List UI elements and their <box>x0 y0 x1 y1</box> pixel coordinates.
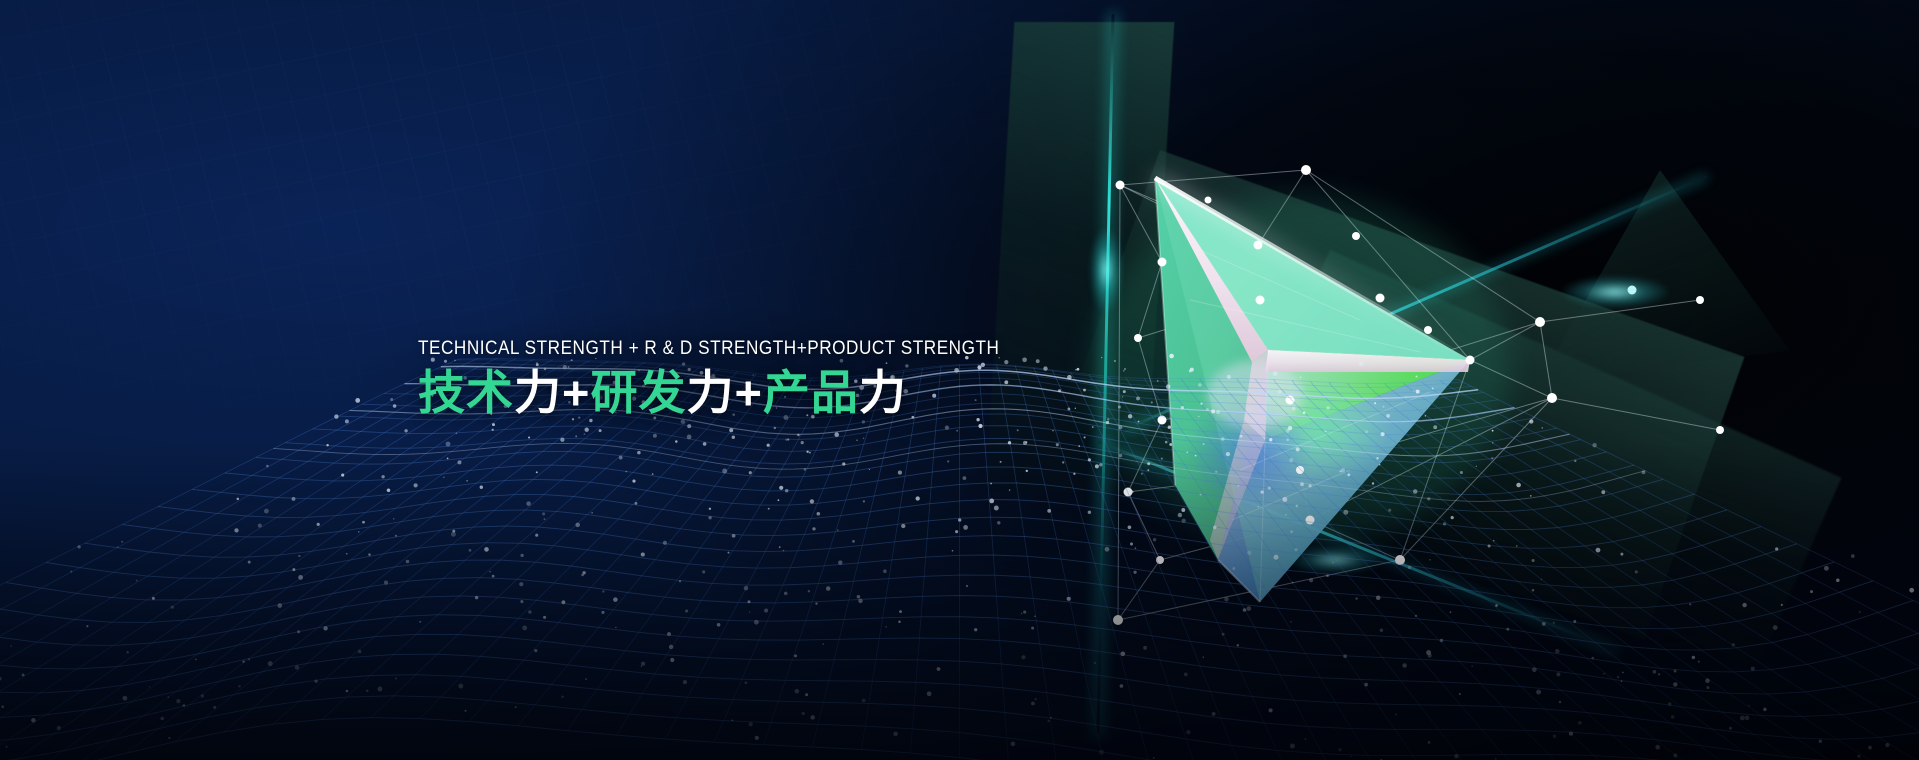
network-edges <box>1118 170 1720 620</box>
light-flare-bottom <box>1270 540 1400 580</box>
prism-edge-bottom <box>1218 560 1260 602</box>
hero-banner: TECHNICAL STRENGTH + R & D STRENGTH+PROD… <box>0 0 1919 760</box>
prism-face-right <box>1265 350 1470 440</box>
headline-eyebrow: TECHNICAL STRENGTH + R & D STRENGTH+PROD… <box>418 336 999 360</box>
title-segment-2: + <box>562 366 590 419</box>
prism-inner-blob-blue <box>1188 397 1312 513</box>
prism-fold-lower <box>1244 350 1268 440</box>
title-segment-1: 力 <box>514 366 562 419</box>
prism-face-left <box>1155 178 1268 560</box>
title-segment-6: 产品 <box>763 366 859 419</box>
headline-title: 技术力+研发力+产品力 <box>418 366 1079 420</box>
backdrop-panel-diagonal-2 <box>1236 250 1841 688</box>
prism-face-bottom-left <box>1218 350 1268 560</box>
backdrop-panel-vertical <box>986 22 1175 492</box>
light-flare-vertical <box>1083 210 1129 330</box>
node-group <box>1113 165 1724 625</box>
prism-front-glass <box>1155 178 1470 602</box>
prism-fold-right <box>1265 350 1470 372</box>
prism-halo <box>1090 195 1510 545</box>
prism-fold-upper <box>1155 178 1268 362</box>
title-segment-7: 力 <box>859 366 907 419</box>
prism-inner-highlight <box>1207 361 1303 429</box>
light-ray-upper-right <box>1119 175 1707 433</box>
prism-facet-lines <box>1155 178 1470 602</box>
headline-block: TECHNICAL STRENGTH + R & D STRENGTH+PROD… <box>418 336 1079 420</box>
backdrop-panel-wedge <box>1540 170 1790 380</box>
title-segment-5: + <box>734 366 762 419</box>
light-ray-vertical <box>1096 14 1114 734</box>
prism-edge-left <box>1155 178 1175 485</box>
prism-face-top <box>1155 178 1470 360</box>
prism-fold-bottom <box>1210 420 1265 560</box>
light-ray-lower-right <box>1097 440 1617 653</box>
light-flare-right <box>1540 270 1690 314</box>
title-segment-4: 力 <box>686 366 734 419</box>
prism-rim-highlight-top <box>1155 178 1470 360</box>
prism-face-bottom <box>1218 360 1470 602</box>
title-segment-3: 研发 <box>590 366 686 419</box>
prism-inner-blob-green <box>1250 378 1390 482</box>
title-segment-0: 技术 <box>418 366 514 419</box>
backdrop-panel-diagonal <box>1060 150 1745 640</box>
